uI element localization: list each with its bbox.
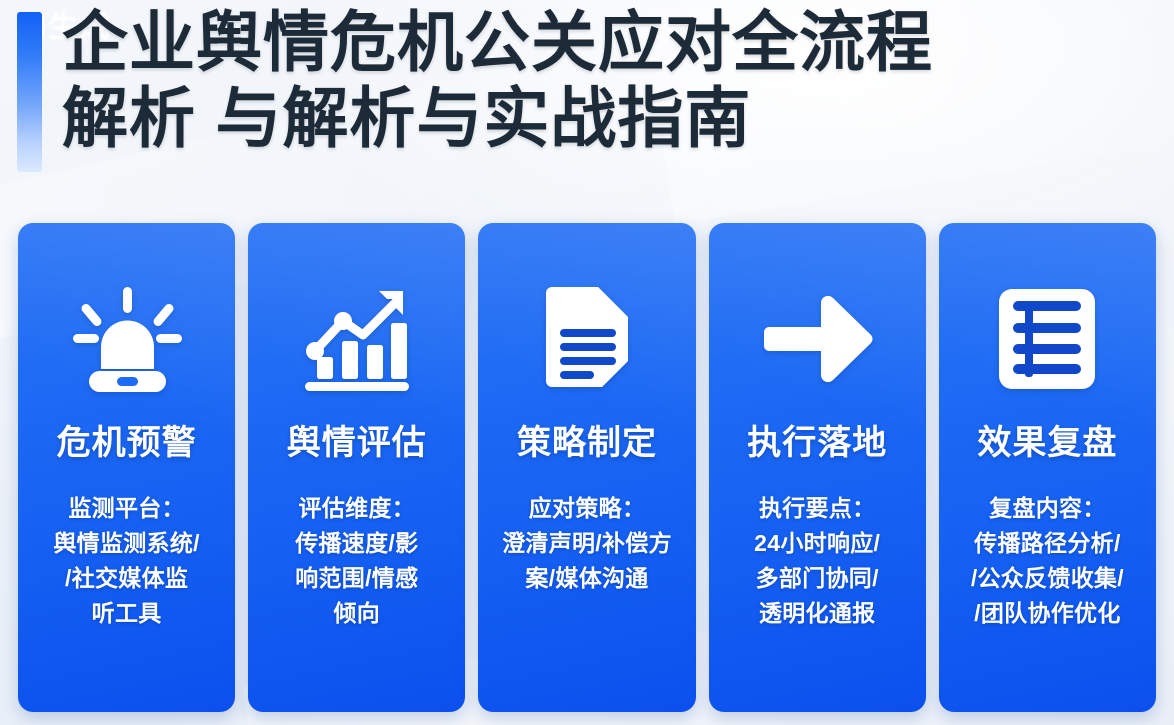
siren-alarm-icon: [68, 283, 186, 395]
document-lines-icon: [528, 283, 646, 395]
slide-canvas: AI生成 企业舆情危机公关应对全流程 解析 与解析与实战指南: [0, 0, 1174, 725]
process-card-body: 应对策略： 澄清声明/补偿方 案/媒体沟通: [488, 491, 685, 596]
process-card-title: 危机预警: [57, 423, 197, 463]
process-card-row: 危机预警 监测平台： 舆情监测系统/ /社交媒体监 听工具 舆情评估: [18, 223, 1156, 712]
process-card-strategy-planning[interactable]: 策略制定 应对策略： 澄清声明/补偿方 案/媒体沟通: [478, 223, 695, 712]
checklist-report-icon: [988, 283, 1106, 395]
slide-header: 企业舆情危机公关应对全流程 解析 与解析与实战指南: [0, 0, 1174, 205]
process-card-execution[interactable]: 执行落地 执行要点： 24小时响应/ 多部门协同/ 透明化通报: [709, 223, 926, 712]
process-card-title: 策略制定: [517, 423, 657, 463]
page-title-line-1: 企业舆情危机公关应对全流程: [62, 4, 1162, 80]
process-card-review[interactable]: 效果复盘 复盘内容： 传播路径分析/ /公众反馈收集/ /团队协作优化: [939, 223, 1156, 712]
process-card-title: 执行落地: [747, 423, 887, 463]
process-card-body: 执行要点： 24小时响应/ 多部门协同/ 透明化通报: [719, 491, 916, 631]
page-title: 企业舆情危机公关应对全流程 解析 与解析与实战指南: [62, 4, 1162, 156]
process-card-body: 评估维度： 传播速度/影 响范围/情感 倾向: [258, 491, 455, 631]
accent-bar: [17, 12, 42, 172]
process-card-title: 效果复盘: [977, 423, 1117, 463]
process-card-body: 复盘内容： 传播路径分析/ /公众反馈收集/ /团队协作优化: [949, 491, 1146, 631]
process-card-title: 舆情评估: [287, 423, 427, 463]
process-card-body: 监测平台： 舆情监测系统/ /社交媒体监 听工具: [28, 491, 225, 631]
process-card-sentiment-assessment[interactable]: 舆情评估 评估维度： 传播速度/影 响范围/情感 倾向: [248, 223, 465, 712]
process-card-crisis-alert[interactable]: 危机预警 监测平台： 舆情监测系统/ /社交媒体监 听工具: [18, 223, 235, 712]
page-title-line-2: 解析 与解析与实战指南: [62, 80, 1162, 156]
bar-chart-trend-up-icon: [298, 283, 416, 395]
arrow-right-icon: [758, 283, 876, 395]
